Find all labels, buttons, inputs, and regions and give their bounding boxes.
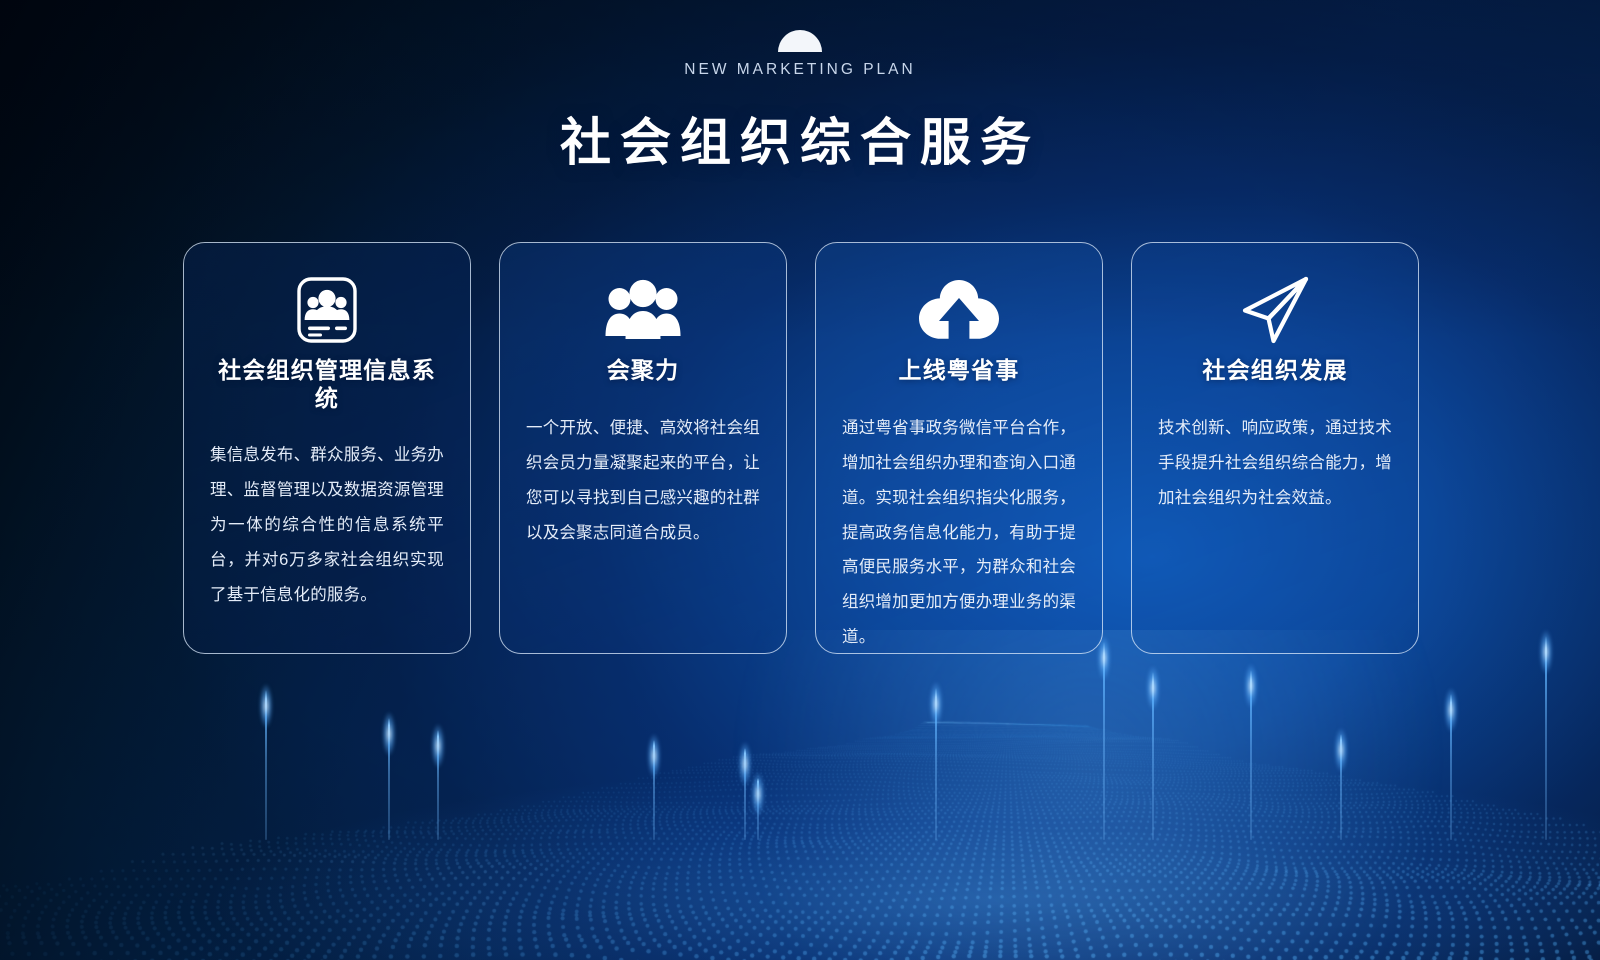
cloud-upload-icon [842,271,1076,349]
header-kicker: NEW MARKETING PLAN [0,62,1600,78]
page-title: 社会组织综合服务 [0,114,1600,173]
feature-card-description: 集信息发布、群众服务、业务办理、监督管理以及数据资源管理为一体的综合性的信息系统… [210,438,444,613]
half-circle-dome-icon [778,30,822,52]
paper-plane-icon [1158,271,1392,349]
feature-card[interactable]: 社会组织发展 技术创新、响应政策，通过技术手段提升社会组织综合能力，增加社会组织… [1131,242,1419,654]
id-card-people-icon [210,271,444,349]
feature-card[interactable]: 社会组织管理信息系统 集信息发布、群众服务、业务办理、监督管理以及数据资源管理为… [183,242,471,654]
feature-card-title: 社会组织管理信息系统 [210,357,444,412]
feature-card-description: 技术创新、响应政策，通过技术手段提升社会组织综合能力，增加社会组织为社会效益。 [1158,411,1392,516]
poster-header: NEW MARKETING PLAN 社会组织综合服务 [0,30,1600,172]
feature-card-description: 通过粤省事政务微信平台合作，增加社会组织办理和查询入口通道。实现社会组织指尖化服… [842,411,1076,654]
poster-canvas: NEW MARKETING PLAN 社会组织综合服务 [0,0,1600,960]
feature-card-title: 社会组织发展 [1158,357,1392,385]
feature-card-description: 一个开放、便捷、高效将社会组织会员力量凝聚起来的平台，让您可以寻找到自己感兴趣的… [526,411,760,551]
feature-card-list: 社会组织管理信息系统 集信息发布、群众服务、业务办理、监督管理以及数据资源管理为… [183,242,1419,654]
feature-card[interactable]: 会聚力 一个开放、便捷、高效将社会组织会员力量凝聚起来的平台，让您可以寻找到自己… [499,242,787,654]
feature-card-title: 上线粤省事 [842,357,1076,385]
people-group-icon [526,271,760,349]
feature-card[interactable]: 上线粤省事 通过粤省事政务微信平台合作，增加社会组织办理和查询入口通道。实现社会… [815,242,1103,654]
feature-card-title: 会聚力 [526,357,760,385]
